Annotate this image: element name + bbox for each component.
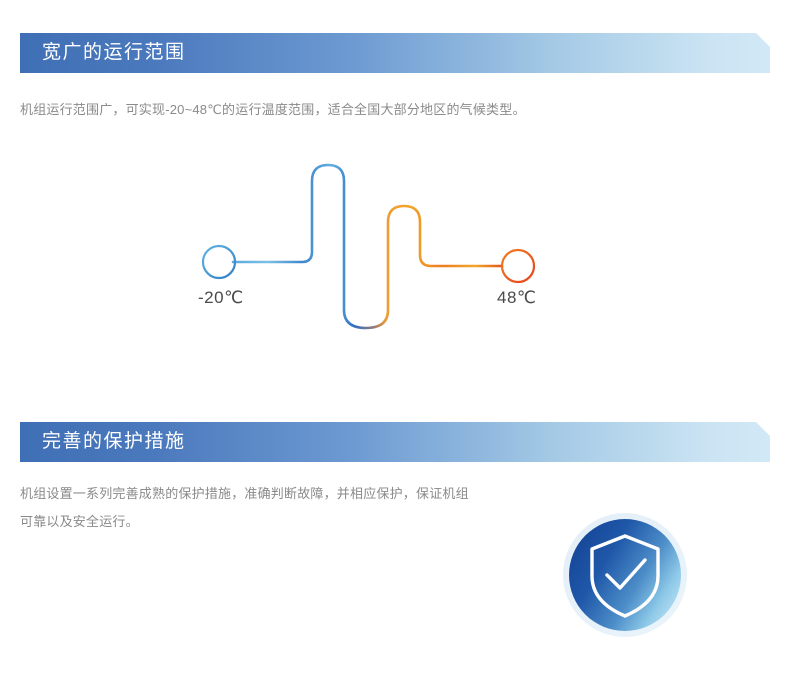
circular-gradient-badge (560, 510, 690, 640)
temperature-label-max: 48℃ (497, 288, 537, 308)
section-paragraph-protection-measures: 机组设置一系列完善成熟的保护措施，准确判断故障，并相应保护，保证机组 可靠以及安… (20, 480, 500, 536)
temperature-path-line (233, 165, 502, 328)
hot-circle-node (502, 250, 534, 282)
section-title-text: 完善的保护措施 (20, 422, 186, 462)
page-root: 宽广的运行范围 机组运行范围广，可实现-20~48℃的运行温度范围，适合全国大部… (0, 0, 790, 673)
section-header-protection-measures: 完善的保护措施 (20, 422, 770, 462)
temperature-label-min: -20℃ (198, 288, 244, 308)
section-paragraph-operating-range: 机组运行范围广，可实现-20~48℃的运行温度范围，适合全国大部分地区的气候类型… (20, 96, 760, 124)
section-title-text: 宽广的运行范围 (20, 33, 186, 73)
cold-circle-node (203, 246, 235, 278)
section-header-operating-range: 宽广的运行范围 (20, 33, 770, 73)
protection-badge (560, 510, 690, 640)
